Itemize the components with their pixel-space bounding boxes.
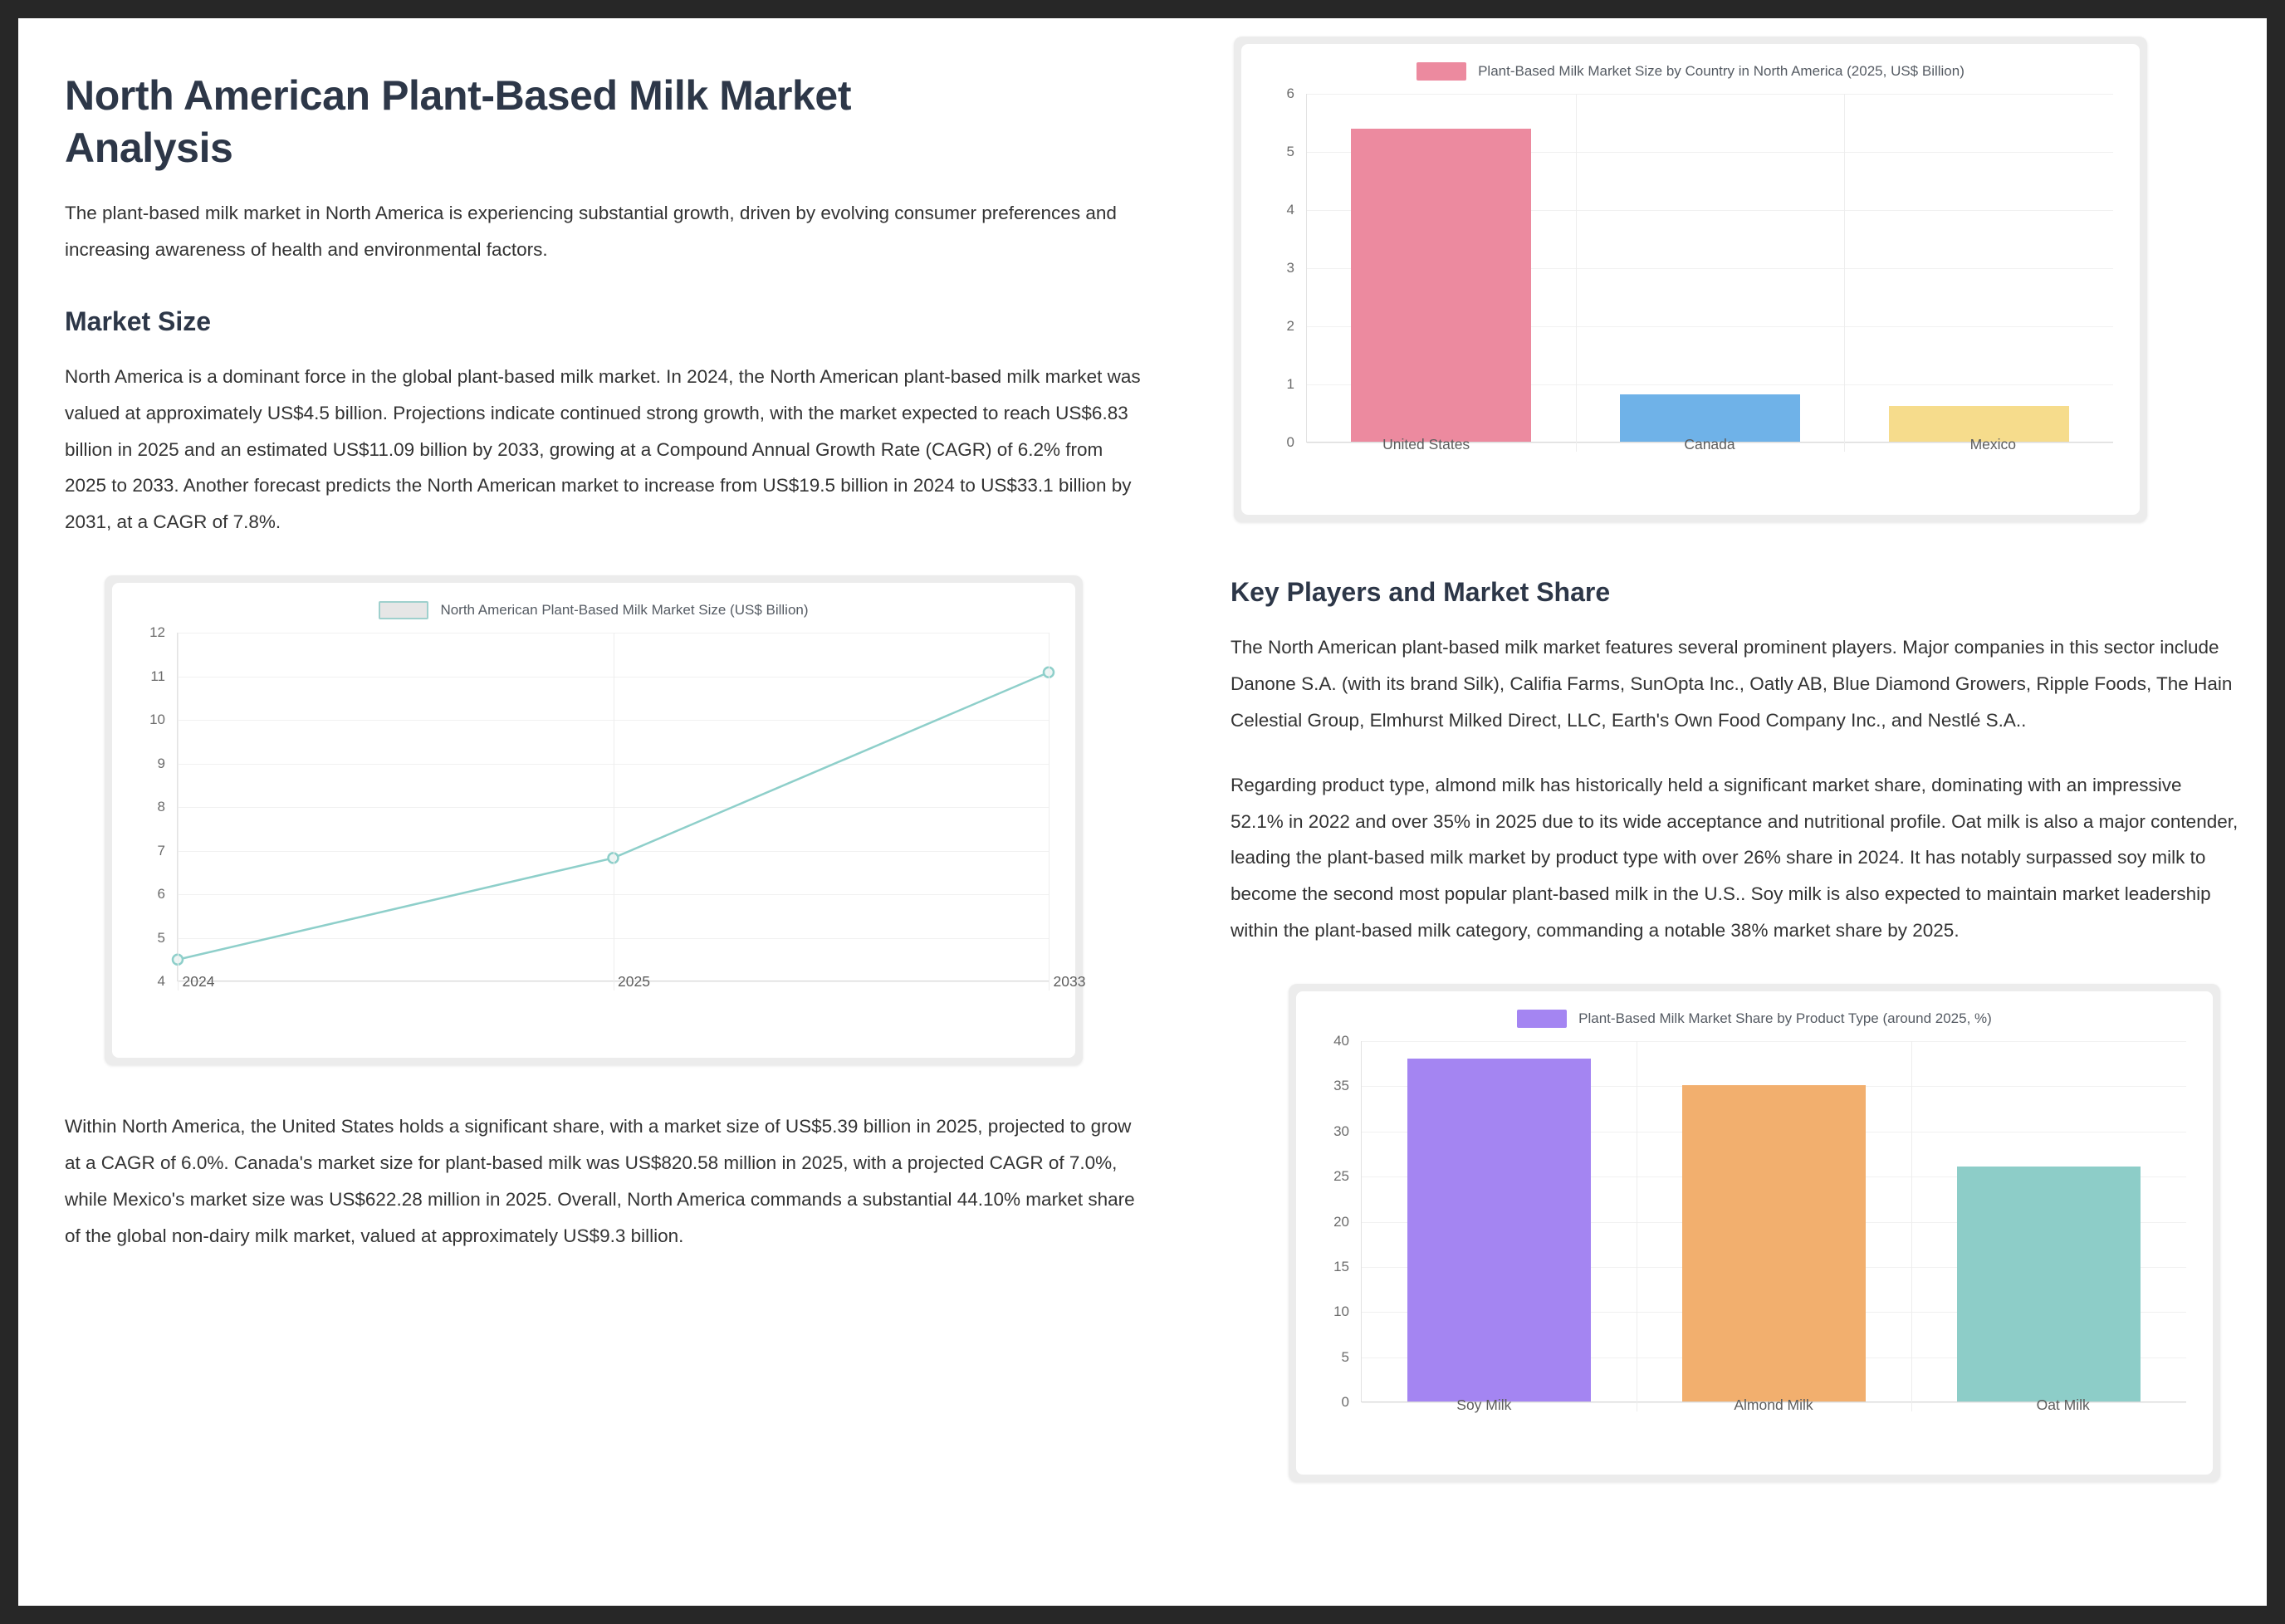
bar-slot (1637, 1041, 1911, 1401)
country-bar-chart: Plant-Based Milk Market Size by Country … (1241, 44, 2140, 515)
country-bar-chart-card: Plant-Based Milk Market Size by Country … (1234, 37, 2147, 522)
axis-tick-label: Soy Milk (1339, 1397, 1629, 1414)
key-players-paragraph-2: Regarding product type, almond milk has … (1231, 767, 2239, 949)
axis-tick-label: 12 (149, 624, 165, 641)
bar[interactable] (1620, 394, 1800, 442)
axis-tick-label: 11 (150, 668, 165, 685)
key-players-paragraph-1: The North American plant-based milk mark… (1231, 629, 2239, 739)
bar[interactable] (1351, 129, 1531, 442)
axis-tick-label: United States (1284, 436, 1568, 453)
country-chart-legend: Plant-Based Milk Market Size by Country … (1241, 44, 2140, 81)
country-chart-x-axis: United StatesCanadaMexico (1284, 436, 2135, 453)
bar-slot (1844, 94, 2113, 442)
country-chart-grid (1306, 94, 2113, 443)
bar[interactable] (1682, 1085, 1867, 1401)
bar-slot (1307, 94, 1576, 442)
bar-slot (1362, 1041, 1637, 1401)
legend-label: North American Plant-Based Milk Market S… (440, 602, 808, 619)
axis-tick-label: 6 (158, 886, 165, 902)
axis-tick-label: 25 (1333, 1168, 1349, 1185)
line-chart-grid (177, 633, 1049, 981)
product-type-bar-chart: Plant-Based Milk Market Share by Product… (1296, 991, 2213, 1475)
market-size-paragraph-2: Within North America, the United States … (65, 1108, 1144, 1255)
legend-label: Plant-Based Milk Market Share by Product… (1578, 1010, 1992, 1027)
axis-tick-label: 5 (158, 930, 165, 947)
category-divider (1049, 633, 1050, 991)
axis-tick-label: 35 (1333, 1078, 1349, 1094)
axis-tick-label: 7 (158, 843, 165, 859)
line-chart-y-axis: 456789101112 (134, 633, 172, 981)
axis-tick-label: 15 (1333, 1259, 1349, 1275)
axis-tick-label: 3 (1287, 260, 1294, 276)
axis-tick-label: 6 (1287, 86, 1294, 102)
product-type-bar-chart-card: Plant-Based Milk Market Share by Product… (1289, 984, 2220, 1482)
right-column: Plant-Based Milk Market Size by Country … (1224, 43, 2239, 1606)
category-divider (178, 633, 179, 991)
legend-label: Plant-Based Milk Market Size by Country … (1478, 63, 1965, 80)
axis-tick-label: Oat Milk (1918, 1397, 2208, 1414)
axis-tick-label: 40 (1333, 1033, 1349, 1049)
bar-slot (1576, 94, 1845, 442)
market-size-line-chart-card: North American Plant-Based Milk Market S… (105, 575, 1083, 1065)
axis-tick-label: 8 (158, 799, 165, 815)
axis-tick-label: 5 (1287, 144, 1294, 160)
axis-tick-label: 20 (1333, 1214, 1349, 1230)
line-chart-legend: North American Plant-Based Milk Market S… (112, 583, 1075, 619)
bar-series (1307, 94, 2113, 442)
axis-tick-label: 4 (158, 973, 165, 990)
market-size-line-chart: North American Plant-Based Milk Market S… (112, 583, 1075, 1058)
axis-tick-label: 4 (1287, 202, 1294, 218)
product-chart-legend: Plant-Based Milk Market Share by Product… (1296, 991, 2213, 1028)
axis-tick-label: 10 (149, 712, 165, 728)
market-size-paragraph-1: North America is a dominant force in the… (65, 359, 1144, 541)
axis-tick-label: 10 (1333, 1304, 1349, 1320)
legend-swatch-icon (379, 601, 428, 619)
axis-tick-label: 1 (1287, 376, 1294, 393)
left-column: North American Plant-Based Milk Market A… (46, 43, 1192, 1606)
bar-series (1362, 1041, 2186, 1401)
axis-tick-label: Almond Milk (1629, 1397, 1919, 1414)
axis-tick-label: 2 (1287, 318, 1294, 335)
line-chart-plot-area: 456789101112 (134, 633, 1054, 981)
bar[interactable] (1957, 1167, 2141, 1401)
axis-tick-label: 30 (1333, 1123, 1349, 1140)
axis-tick-label: 5 (1342, 1349, 1349, 1366)
two-column-layout: North American Plant-Based Milk Market A… (18, 18, 2267, 1606)
product-chart-grid (1361, 1041, 2186, 1402)
page-title: North American Plant-Based Milk Market A… (65, 70, 995, 174)
country-chart-y-axis: 0123456 (1263, 94, 1301, 443)
product-chart-x-axis: Soy MilkAlmond MilkOat Milk (1339, 1397, 2208, 1414)
product-chart-y-axis: 0510152025303540 (1318, 1041, 1356, 1402)
section-heading-key-players: Key Players and Market Share (1231, 577, 2239, 608)
category-divider (614, 633, 614, 991)
axis-tick-label: 2025 (618, 973, 650, 991)
axis-tick-label: 9 (158, 756, 165, 772)
legend-swatch-icon (1517, 1010, 1567, 1028)
document-page: North American Plant-Based Milk Market A… (18, 18, 2267, 1606)
axis-tick-label: 2024 (183, 973, 215, 991)
axis-tick-label: Mexico (1852, 436, 2135, 453)
product-chart-plot-area: 0510152025303540 (1318, 1041, 2191, 1402)
country-chart-plot-area: 0123456 (1263, 94, 2118, 443)
axis-tick-label: 2033 (1054, 973, 1086, 991)
axis-tick-label: Canada (1568, 436, 1851, 453)
intro-paragraph: The plant-based milk market in North Ame… (65, 195, 1144, 268)
section-heading-market-size: Market Size (65, 306, 1174, 337)
bar[interactable] (1407, 1059, 1592, 1401)
legend-swatch-icon (1417, 62, 1466, 81)
bar-slot (1911, 1041, 2186, 1401)
